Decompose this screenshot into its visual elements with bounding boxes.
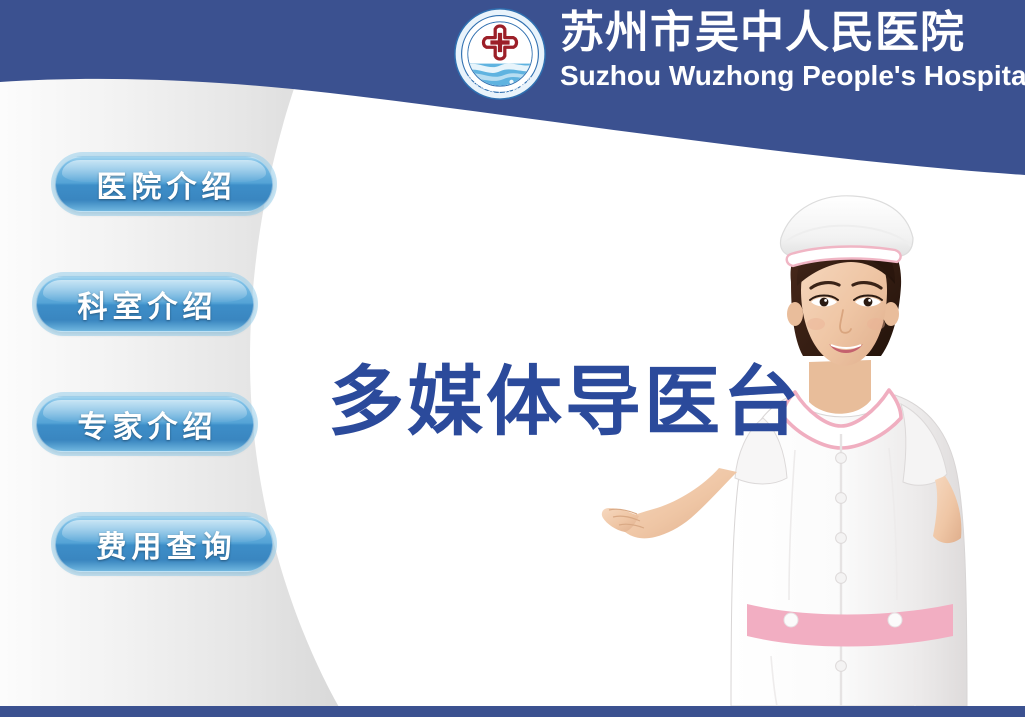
sidebar-item-label: 费用查询 xyxy=(92,522,237,566)
hospital-logo-icon: SUZHOU WUZHONG PEOPLE'S HOSPITAL 苏州市吴中人民… xyxy=(452,6,548,102)
sidebar-nav: 医院介绍 科室介绍 专家介绍 费用查询 xyxy=(0,0,330,717)
hospital-name-en: Suzhou Wuzhong People's Hospital xyxy=(560,60,1025,92)
sidebar-item-hospital-intro[interactable]: 医院介绍 xyxy=(55,156,273,212)
sidebar-item-expert-intro[interactable]: 专家介绍 xyxy=(36,396,254,452)
sidebar-item-label: 专家介绍 xyxy=(73,402,218,446)
kiosk-screen: SUZHOU WUZHONG PEOPLE'S HOSPITAL 苏州市吴中人民… xyxy=(0,0,1025,717)
hospital-name-cn: 苏州市吴中人民医院 xyxy=(560,6,1025,60)
sidebar-item-department-intro[interactable]: 科室介绍 xyxy=(36,276,254,332)
brand-text: 苏州市吴中人民医院 Suzhou Wuzhong People's Hospit… xyxy=(560,4,1025,92)
page-title: 多媒体导医台 xyxy=(328,357,802,447)
brand: SUZHOU WUZHONG PEOPLE'S HOSPITAL 苏州市吴中人民… xyxy=(452,4,1025,102)
sidebar-item-fee-inquiry[interactable]: 费用查询 xyxy=(55,516,273,572)
sidebar-item-label: 科室介绍 xyxy=(73,282,218,326)
sidebar-item-label: 医院介绍 xyxy=(92,162,237,206)
